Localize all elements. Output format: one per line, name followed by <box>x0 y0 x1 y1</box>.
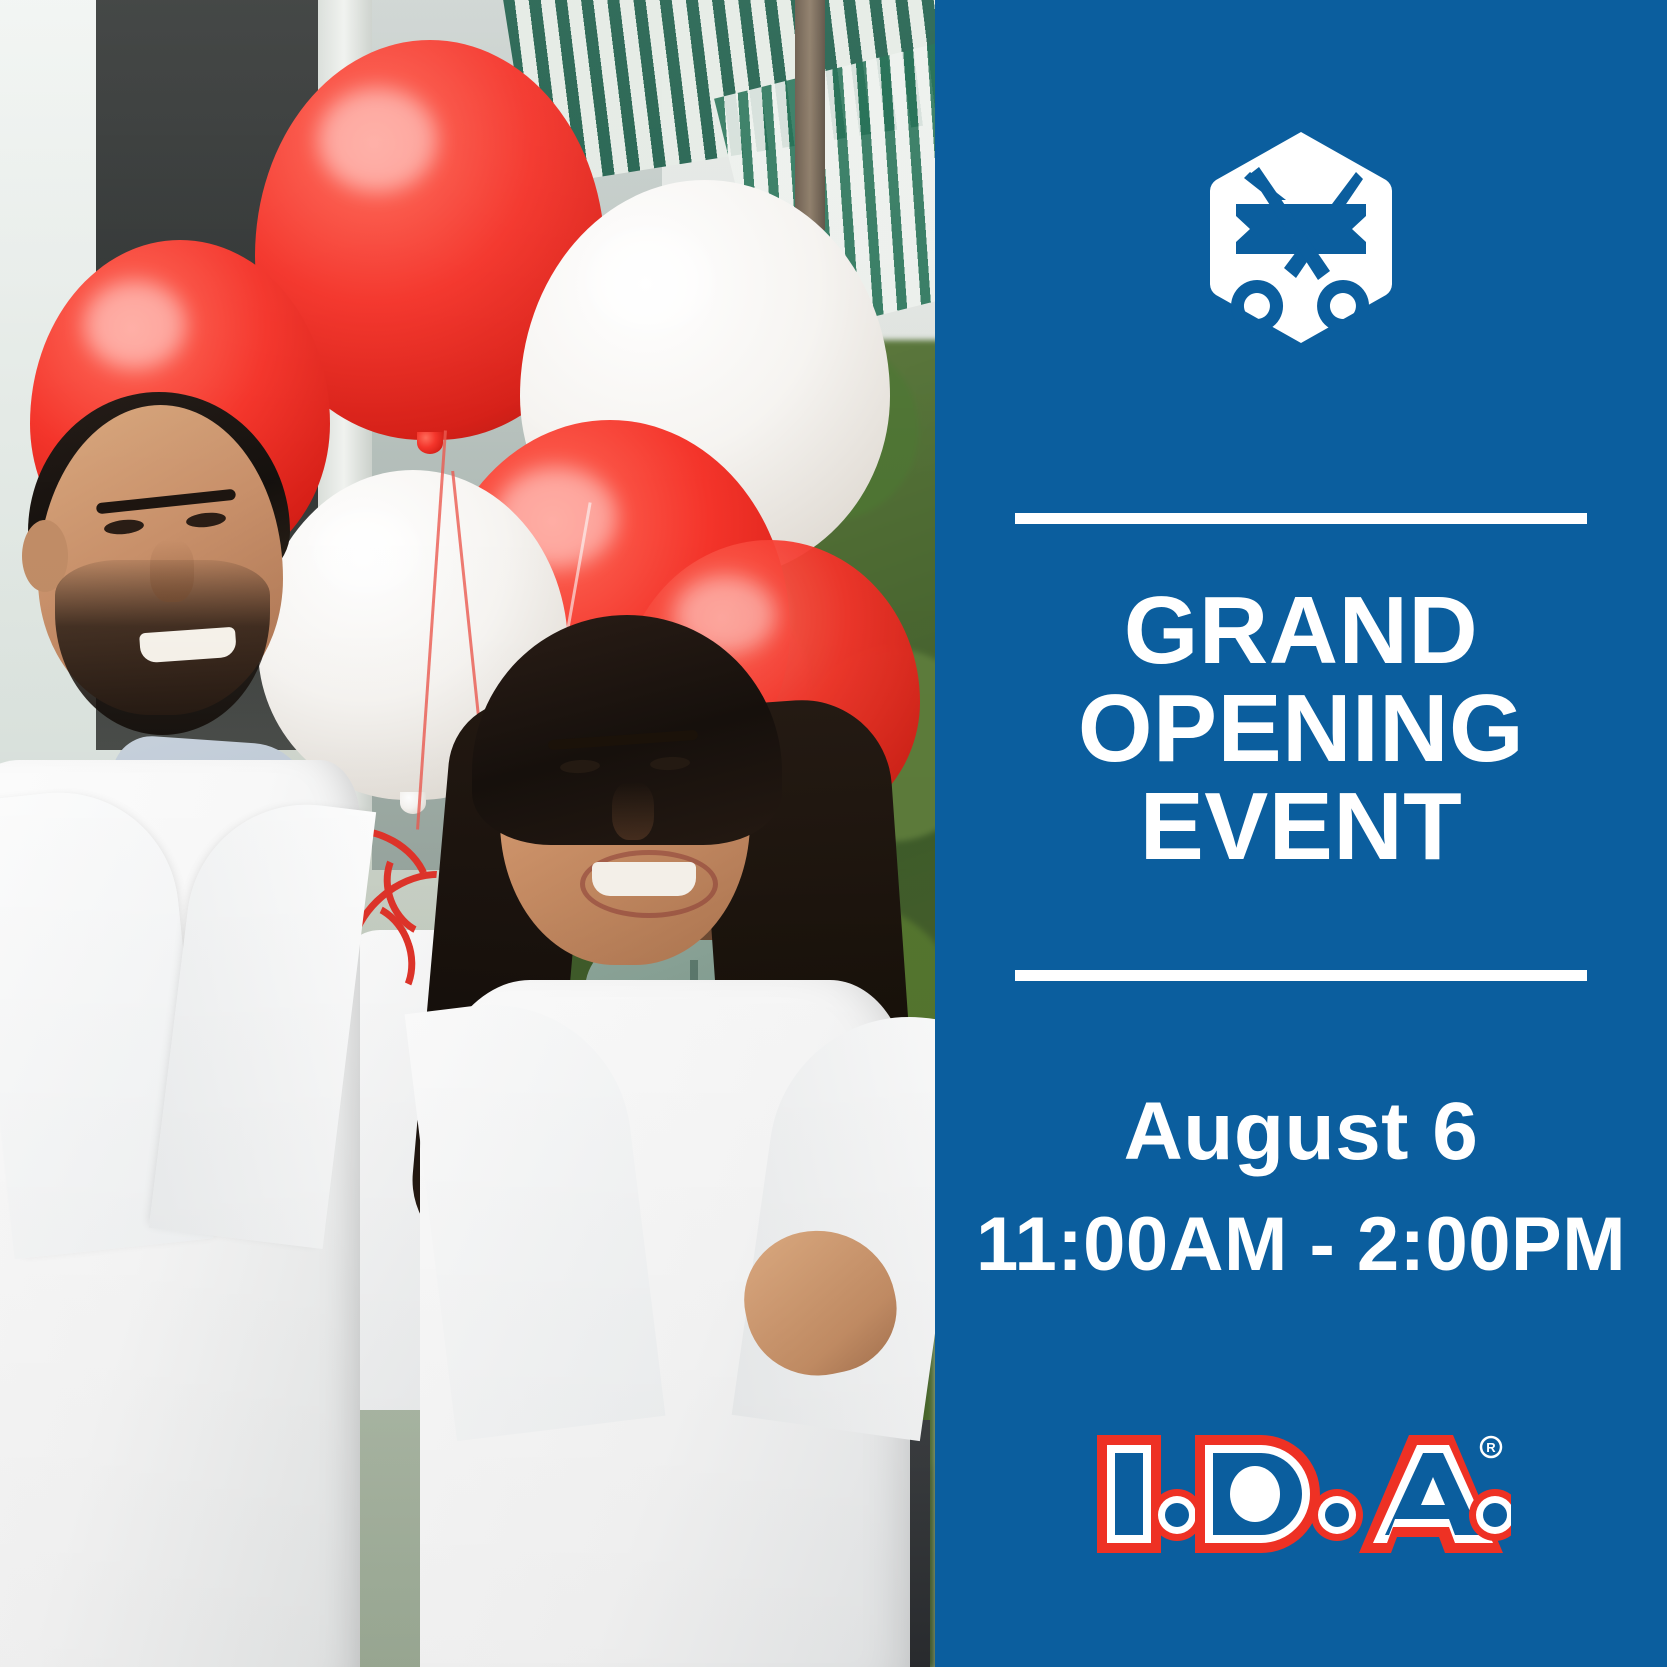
storefront-post <box>795 0 825 230</box>
divider-top <box>1015 513 1587 524</box>
event-date: August 6 <box>971 1089 1631 1175</box>
pharmacist-female-nose <box>612 782 654 840</box>
page-title: GRAND OPENING EVENT <box>981 582 1621 876</box>
headline-line-1: GRAND <box>981 582 1621 680</box>
grand-opening-poster: GRAND OPENING EVENT August 6 11:00AM - 2… <box>0 0 1667 1667</box>
ribbon-cutting-scissors-hex-icon <box>1210 130 1392 345</box>
ida-logo: R <box>1091 1419 1511 1569</box>
pharmacy-team-photo <box>0 0 935 1667</box>
registered-trademark-icon: R <box>1481 1437 1501 1457</box>
event-details: August 6 11:00AM - 2:00PM <box>971 1089 1631 1285</box>
photo-stage <box>0 0 935 1667</box>
svg-text:R: R <box>1486 1440 1496 1455</box>
divider-bottom <box>1015 970 1587 981</box>
event-info-panel: GRAND OPENING EVENT August 6 11:00AM - 2… <box>935 0 1667 1667</box>
pharmacist-female-smile <box>592 862 696 896</box>
headline-line-2: OPENING <box>981 680 1621 778</box>
pharmacist-male-nose <box>150 540 194 602</box>
event-time: 11:00AM - 2:00PM <box>971 1205 1631 1285</box>
headline-line-3: EVENT <box>981 778 1621 876</box>
